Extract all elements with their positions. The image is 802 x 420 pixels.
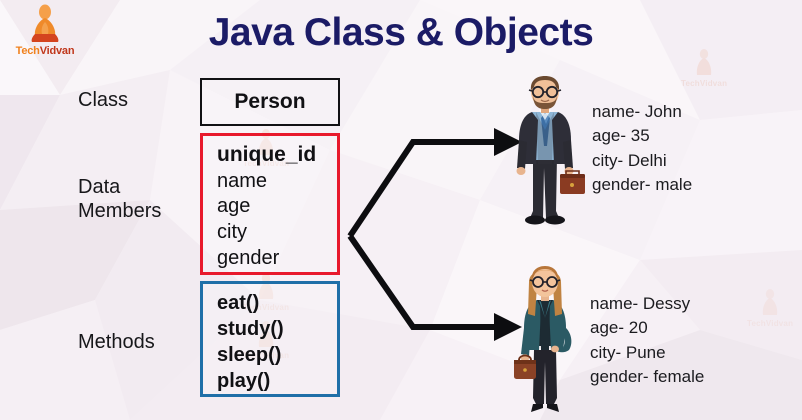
- slide-canvas: TechVidvan TechVidvan TechVidvan TechVid…: [0, 0, 802, 420]
- class-name-box: Person: [200, 78, 340, 126]
- object-attribute: age- 20: [590, 316, 704, 340]
- label-data-members: Data Members: [78, 175, 161, 224]
- label-class: Class: [78, 88, 128, 112]
- object-attribute: gender- male: [592, 173, 692, 197]
- object-attribute: city- Delhi: [592, 149, 692, 173]
- data-member-item: city: [217, 220, 337, 246]
- businesswoman-with-handbag-icon: [503, 258, 587, 418]
- data-member-item: unique_id: [217, 142, 337, 169]
- object-attributes-dessy: name- Dessy age- 20 city- Pune gender- f…: [590, 292, 704, 389]
- businessman-with-briefcase-icon: [503, 68, 587, 228]
- page-title: Java Class & Objects: [0, 11, 802, 55]
- class-name: Person: [234, 90, 305, 114]
- method-item: study(): [217, 316, 337, 342]
- label-data-members-line1: Data: [78, 175, 161, 199]
- data-member-item: gender: [217, 246, 337, 272]
- arrow-to-object-dessy: [350, 236, 497, 327]
- method-item: play(): [217, 368, 337, 394]
- object-attribute: city- Pune: [590, 341, 704, 365]
- label-data-members-line2: Members: [78, 199, 161, 223]
- object-attribute: gender- female: [590, 365, 704, 389]
- method-item: eat(): [217, 290, 337, 316]
- data-member-item: name: [217, 169, 337, 195]
- data-member-item: age: [217, 194, 337, 220]
- label-methods: Methods: [78, 330, 155, 354]
- object-attribute: age- 35: [592, 124, 692, 148]
- object-attribute: name- John: [592, 100, 692, 124]
- arrow-to-object-john: [350, 142, 497, 236]
- object-attributes-john: name- John age- 35 city- Delhi gender- m…: [592, 100, 692, 197]
- object-attribute: name- Dessy: [590, 292, 704, 316]
- object-illustration-dessy: [503, 258, 587, 420]
- method-item: sleep(): [217, 342, 337, 368]
- methods-box: eat() study() sleep() play(): [200, 281, 340, 397]
- data-members-box: unique_id name age city gender: [200, 133, 340, 275]
- object-illustration-john: [503, 68, 587, 233]
